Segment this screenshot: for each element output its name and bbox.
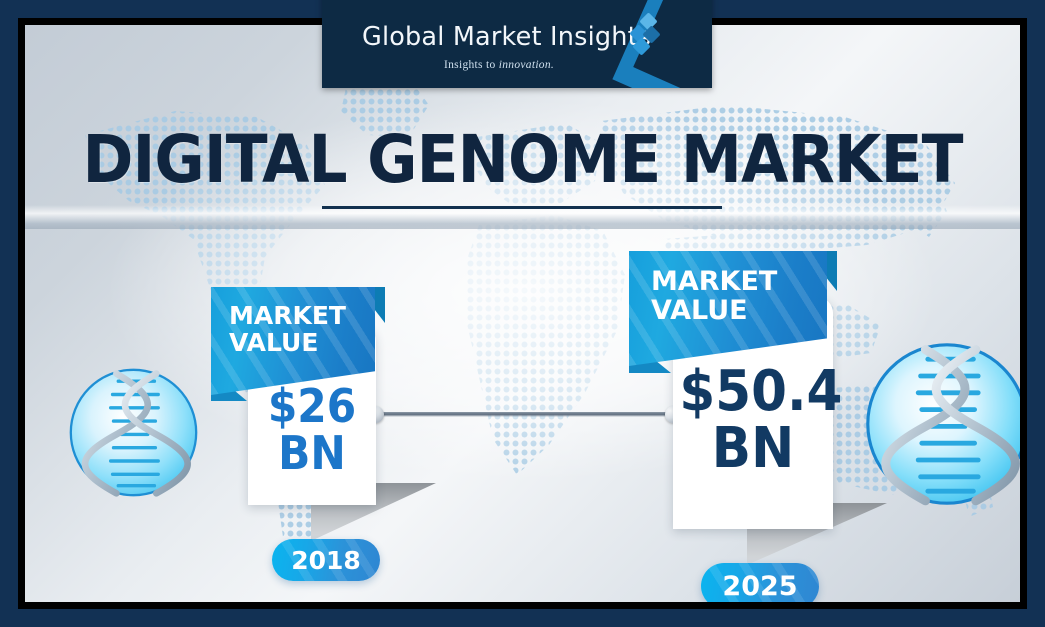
market-value-amount-group: $50.4 BN [679, 363, 826, 477]
market-value-card-2018[interactable]: MARKET VALUE $26 BN 2018 [211, 287, 451, 597]
market-value-unit: BN [253, 430, 371, 477]
year-badge-2018[interactable]: 2018 [272, 539, 380, 581]
diamond-cluster-icon [630, 15, 660, 57]
year-badge-2025[interactable]: 2025 [701, 563, 819, 602]
content-stage: DIGITAL GENOME MARKET [25, 25, 1020, 602]
market-value-amount: $26 [253, 383, 371, 430]
market-value-unit: BN [679, 420, 826, 477]
ribbon-line-1: MARKET [229, 303, 375, 330]
year-label: 2025 [722, 571, 797, 602]
ribbon-line-2: VALUE [229, 330, 375, 357]
dna-helix-icon-left [67, 366, 200, 499]
year-label: 2018 [291, 546, 361, 575]
brand-tagline: Insights to innovation. [444, 59, 554, 71]
market-value-card-2025[interactable]: MARKET VALUE $50.4 BN 2025 [629, 251, 919, 602]
ribbon-line-2: VALUE [651, 297, 827, 326]
tagline-prefix: Insights to [444, 59, 499, 71]
tagline-emphasis: innovation. [499, 59, 554, 71]
market-value-amount: $50.4 [679, 363, 826, 420]
market-value-amount-group: $26 BN [253, 383, 371, 477]
ribbon-line-1: MARKET [651, 268, 827, 297]
brand-logo-block[interactable]: Global Market Insights Insights to innov… [322, 0, 712, 88]
title-underline [322, 206, 722, 209]
brand-name: Global Market Insights [362, 22, 651, 52]
page-title: DIGITAL GENOME MARKET [60, 127, 985, 193]
infographic-canvas: DIGITAL GENOME MARKET [0, 0, 1045, 627]
